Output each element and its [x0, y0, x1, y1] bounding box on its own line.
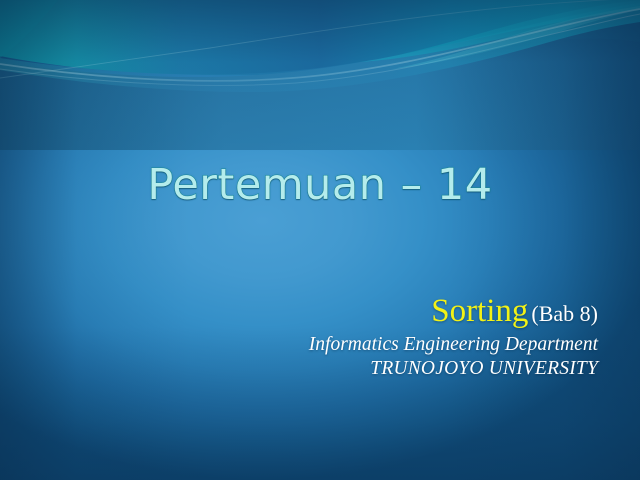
subtitle-placeholder: Sorting(Bab 8) Informatics Engineering D… [138, 295, 598, 381]
subtitle-department: Informatics Engineering Department [138, 333, 598, 357]
slide-side-shading [0, 0, 640, 480]
subtitle-institution: TRUNOJOYO UNIVERSITY [138, 357, 598, 381]
title-placeholder: Pertemuan – 14 [0, 163, 640, 208]
subtitle-topic: Sorting [431, 293, 528, 329]
presentation-slide: Pertemuan – 14 Sorting(Bab 8) Informatic… [0, 0, 640, 480]
subtitle-topic-line: Sorting(Bab 8) [138, 295, 598, 328]
subtitle-chapter: (Bab 8) [531, 301, 598, 326]
slide-title: Pertemuan – 14 [0, 163, 640, 208]
